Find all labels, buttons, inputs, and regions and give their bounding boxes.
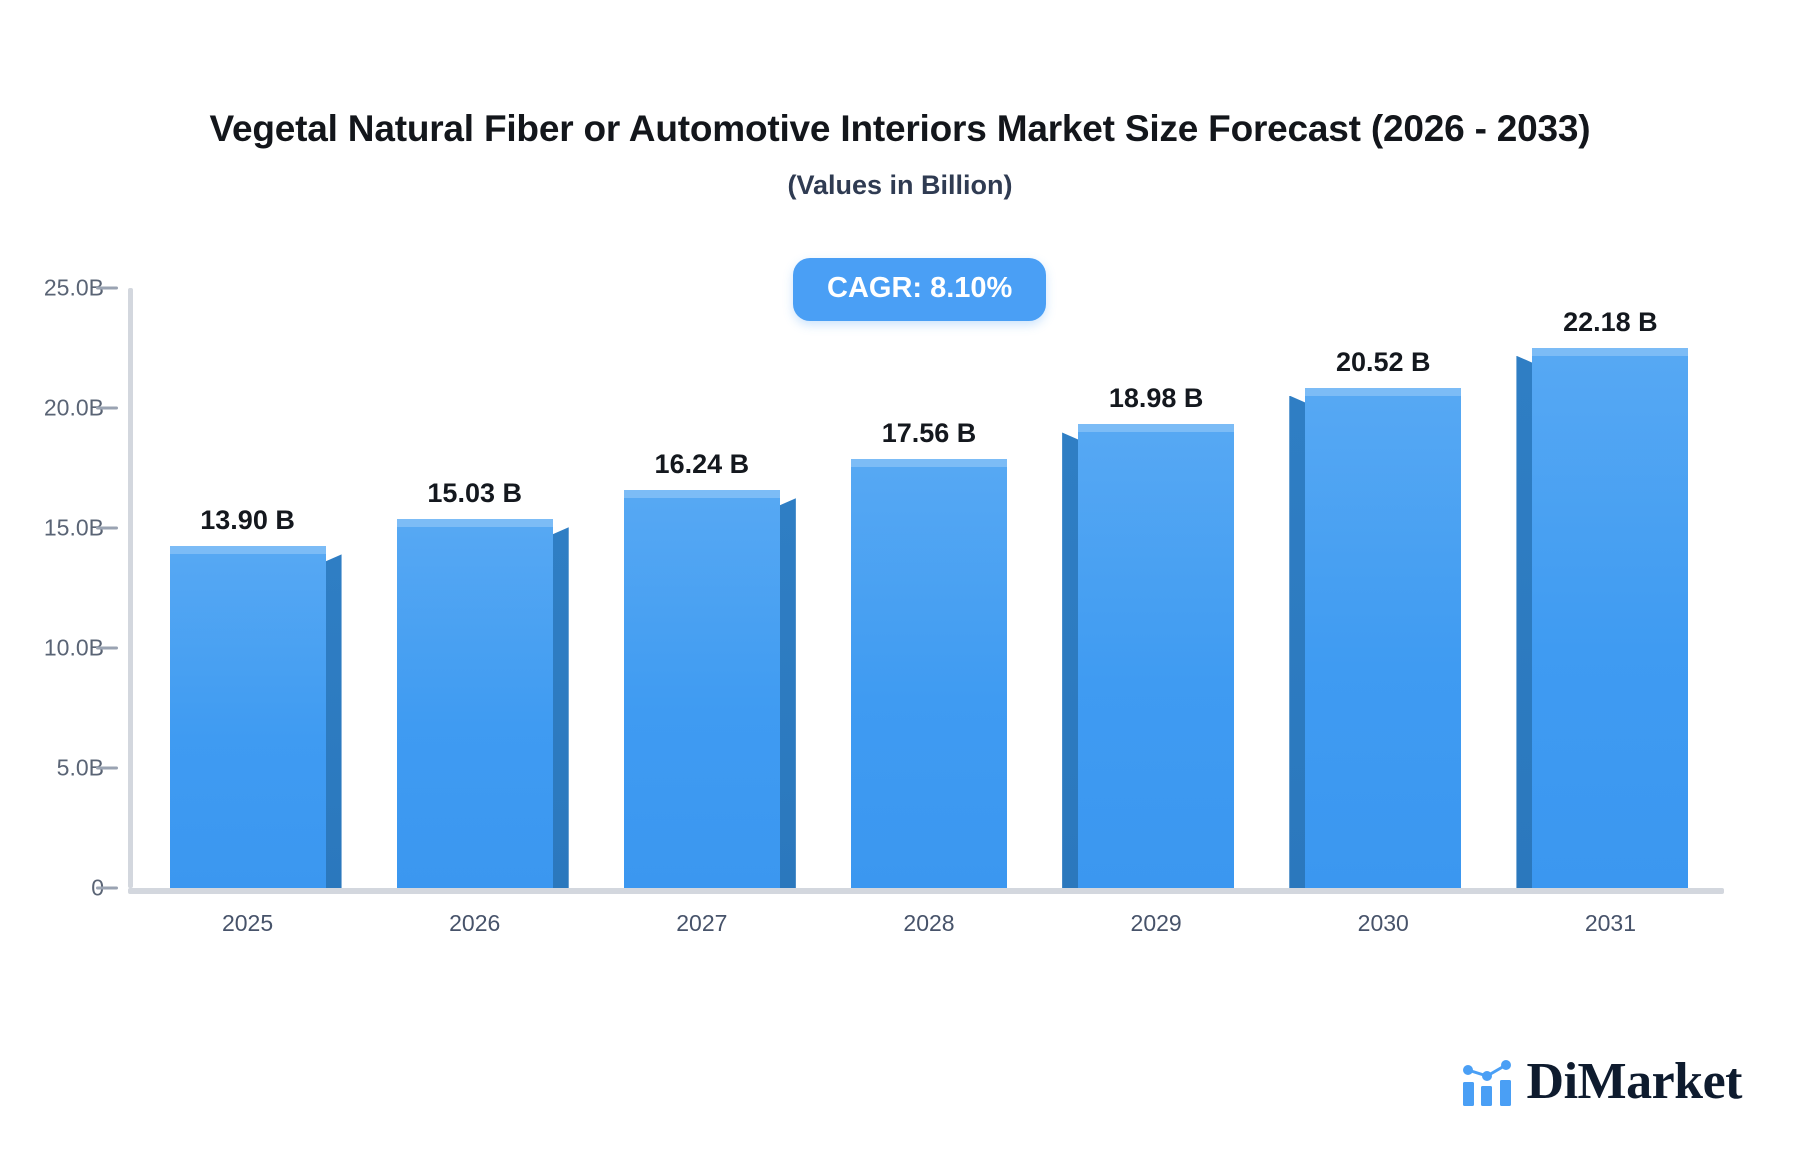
bar-value-label: 22.18 B [1563, 307, 1658, 338]
bar-top-face [1532, 348, 1688, 356]
bar[interactable] [1532, 356, 1688, 888]
bar-side-face [553, 527, 569, 888]
y-axis-tick-mark [96, 887, 118, 890]
bar-top-face [170, 546, 326, 554]
bar-front-face [851, 467, 1007, 888]
x-axis-tick-label: 2028 [903, 910, 954, 937]
bar-top-face [851, 459, 1007, 467]
bar-side-face [1516, 356, 1532, 888]
bar-series: 13.90 B202515.03 B202616.24 B202717.56 B… [134, 288, 1724, 888]
plot-area: 05.0B10.0B15.0B20.0B25.0B 13.90 B202515.… [134, 288, 1724, 888]
bar-front-face [624, 498, 780, 888]
bar[interactable] [1305, 396, 1461, 888]
bar-group: 16.24 B2027 [588, 288, 815, 888]
bar-top-face [1305, 388, 1461, 396]
x-axis-tick-label: 2027 [676, 910, 727, 937]
bar-chart-logo-icon [1461, 1058, 1513, 1106]
bar-group: 13.90 B2025 [134, 288, 361, 888]
bar-value-label: 20.52 B [1336, 347, 1431, 378]
bar[interactable] [851, 467, 1007, 888]
chart-title: Vegetal Natural Fiber or Automotive Inte… [0, 108, 1800, 150]
y-axis-tick-label: 25.0B [44, 275, 104, 302]
y-axis-tick-mark [96, 647, 118, 650]
y-axis-tick-mark [96, 767, 118, 770]
y-axis-tick-mark [96, 407, 118, 410]
bar-front-face [397, 527, 553, 888]
x-axis-tick-label: 2030 [1358, 910, 1409, 937]
x-axis-tick-label: 2026 [449, 910, 500, 937]
bar-front-face [1078, 432, 1234, 888]
bar-group: 18.98 B2029 [1043, 288, 1270, 888]
chart-subtitle: (Values in Billion) [0, 170, 1800, 201]
bar-group: 20.52 B2030 [1270, 288, 1497, 888]
bar-side-face [780, 498, 796, 888]
y-axis-tick-mark [96, 527, 118, 530]
x-axis-tick-label: 2029 [1131, 910, 1182, 937]
bar-group: 15.03 B2026 [361, 288, 588, 888]
chart-container: Vegetal Natural Fiber or Automotive Inte… [0, 0, 1800, 1156]
bar-group: 17.56 B2028 [815, 288, 1042, 888]
y-axis-tick-label: 15.0B [44, 515, 104, 542]
bar-top-face [397, 519, 553, 527]
y-axis-tick-label: 10.0B [44, 635, 104, 662]
bar-front-face [170, 554, 326, 888]
bar-value-label: 15.03 B [427, 478, 522, 509]
bar-value-label: 16.24 B [655, 449, 750, 480]
bar[interactable] [170, 554, 326, 888]
bar-chart-logo-icon-svg [1461, 1058, 1513, 1106]
bar-top-face [624, 490, 780, 498]
bar-side-face [1062, 432, 1078, 888]
x-axis-line [128, 888, 1724, 894]
bar-value-label: 18.98 B [1109, 383, 1204, 414]
bar-side-face [326, 554, 342, 888]
bar-value-label: 13.90 B [200, 505, 295, 536]
x-axis-tick-label: 2025 [222, 910, 273, 937]
bar-front-face [1305, 396, 1461, 888]
dimarket-logo: DiMarket [1461, 1056, 1742, 1108]
bar-side-face [1289, 396, 1305, 888]
x-axis-tick-label: 2031 [1585, 910, 1636, 937]
bar-group: 22.18 B2031 [1497, 288, 1724, 888]
bar[interactable] [1078, 432, 1234, 888]
logo-wordmark: DiMarket [1527, 1056, 1742, 1108]
bar-top-face [1078, 424, 1234, 432]
y-axis-line [128, 288, 133, 888]
bar[interactable] [397, 527, 553, 888]
y-axis-tick-mark [96, 287, 118, 290]
bar-front-face [1532, 356, 1688, 888]
y-axis-tick-label: 20.0B [44, 395, 104, 422]
bar[interactable] [624, 498, 780, 888]
bar-value-label: 17.56 B [882, 418, 977, 449]
